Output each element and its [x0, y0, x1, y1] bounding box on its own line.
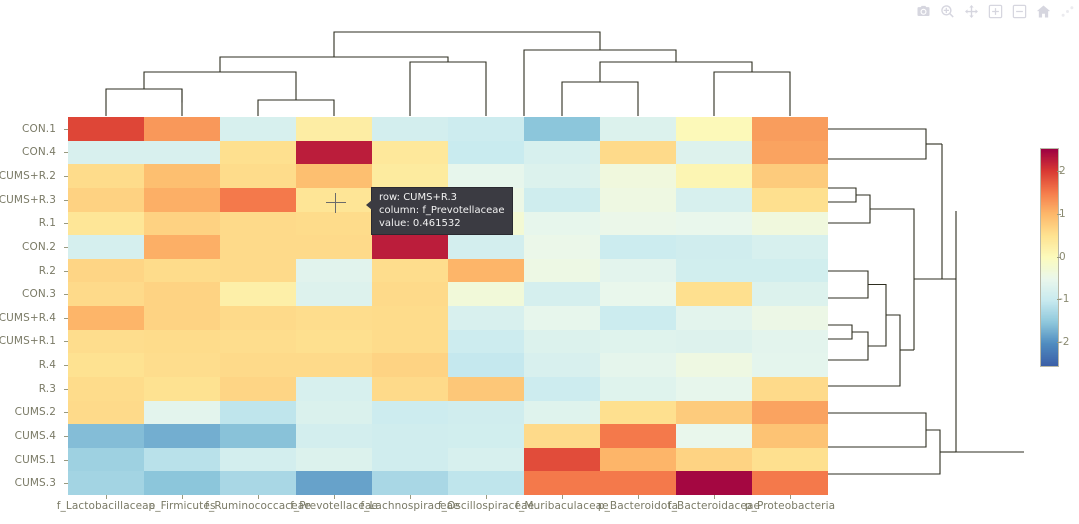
column-label: f_Muribaculaceae — [515, 500, 609, 512]
tooltip-column: column: f_Prevotellaceae — [379, 204, 505, 217]
column-labels: f_Lactobacillaceaep_Firmicutesf_Ruminoco… — [68, 498, 828, 520]
row-tickmark — [64, 318, 68, 319]
column-label: p_Proteobacteria — [745, 500, 835, 512]
colorbar-ticks: 210-1-2 — [1040, 148, 1079, 365]
row-tickmark — [64, 176, 68, 177]
row-label: CUMS.4 — [15, 430, 56, 442]
dendrogram-links — [106, 32, 790, 116]
column-label: p_Bacteroidota — [598, 500, 678, 512]
plotly-heatmap-figure: CON.1CON.4CUMS+R.2CUMS+R.3R.1CON.2R.2CON… — [0, 0, 1079, 524]
row-tickmark — [64, 294, 68, 295]
row-label: CUMS.1 — [15, 454, 56, 466]
row-label: CUMS+R.1 — [0, 335, 56, 347]
row-tickmark — [64, 223, 68, 224]
row-label: R.1 — [39, 217, 56, 229]
crosshair-cursor — [326, 193, 346, 213]
column-dendrogram-svg — [68, 16, 828, 116]
row-label: CUMS.3 — [15, 477, 56, 489]
row-label: CON.1 — [22, 123, 56, 135]
row-label: CON.4 — [22, 146, 56, 158]
row-label: CUMS+R.3 — [0, 194, 56, 206]
colorbar-tick-label: -2 — [1059, 336, 1069, 348]
row-tickmark — [64, 200, 68, 201]
column-label: f_Lactobacillaceae — [57, 500, 156, 512]
colorbar-tick-label: 0 — [1059, 251, 1066, 263]
heatmap-cells[interactable] — [68, 117, 828, 495]
row-tickmark — [64, 412, 68, 413]
dendrogram-links — [828, 129, 1024, 474]
row-label: R.4 — [39, 359, 56, 371]
row-tickmark — [64, 389, 68, 390]
row-dendrogram-svg — [828, 117, 1028, 495]
row-tickmark — [64, 483, 68, 484]
row-label: CON.3 — [22, 288, 56, 300]
tooltip-value: value: 0.461532 — [379, 217, 505, 230]
row-label: R.2 — [39, 265, 56, 277]
row-tickmark — [64, 129, 68, 130]
row-tickmark — [64, 365, 68, 366]
colorbar-tick-label: 2 — [1059, 165, 1066, 177]
row-tickmark — [64, 152, 68, 153]
column-dendrogram — [68, 16, 828, 116]
row-labels: CON.1CON.4CUMS+R.2CUMS+R.3R.1CON.2R.2CON… — [0, 117, 64, 495]
row-label: CUMS+R.2 — [0, 170, 56, 182]
colorbar-tick-label: -1 — [1059, 293, 1069, 305]
row-label: CUMS.2 — [15, 406, 56, 418]
heatmap-canvas[interactable] — [68, 117, 828, 495]
colorbar-tick-label: 1 — [1059, 208, 1066, 220]
row-label: CON.2 — [22, 241, 56, 253]
figure-canvas: CON.1CON.4CUMS+R.2CUMS+R.3R.1CON.2R.2CON… — [0, 0, 1079, 524]
row-dendrogram — [828, 117, 1028, 495]
tooltip-row: row: CUMS+R.3 — [379, 191, 505, 204]
row-tickmark — [64, 247, 68, 248]
row-label: R.3 — [39, 383, 56, 395]
row-tickmark — [64, 271, 68, 272]
row-tickmark — [64, 436, 68, 437]
row-label: CUMS+R.4 — [0, 312, 56, 324]
row-tickmark — [64, 341, 68, 342]
row-tickmark — [64, 460, 68, 461]
hover-tooltip: row: CUMS+R.3 column: f_Prevotellaceae v… — [371, 187, 513, 235]
